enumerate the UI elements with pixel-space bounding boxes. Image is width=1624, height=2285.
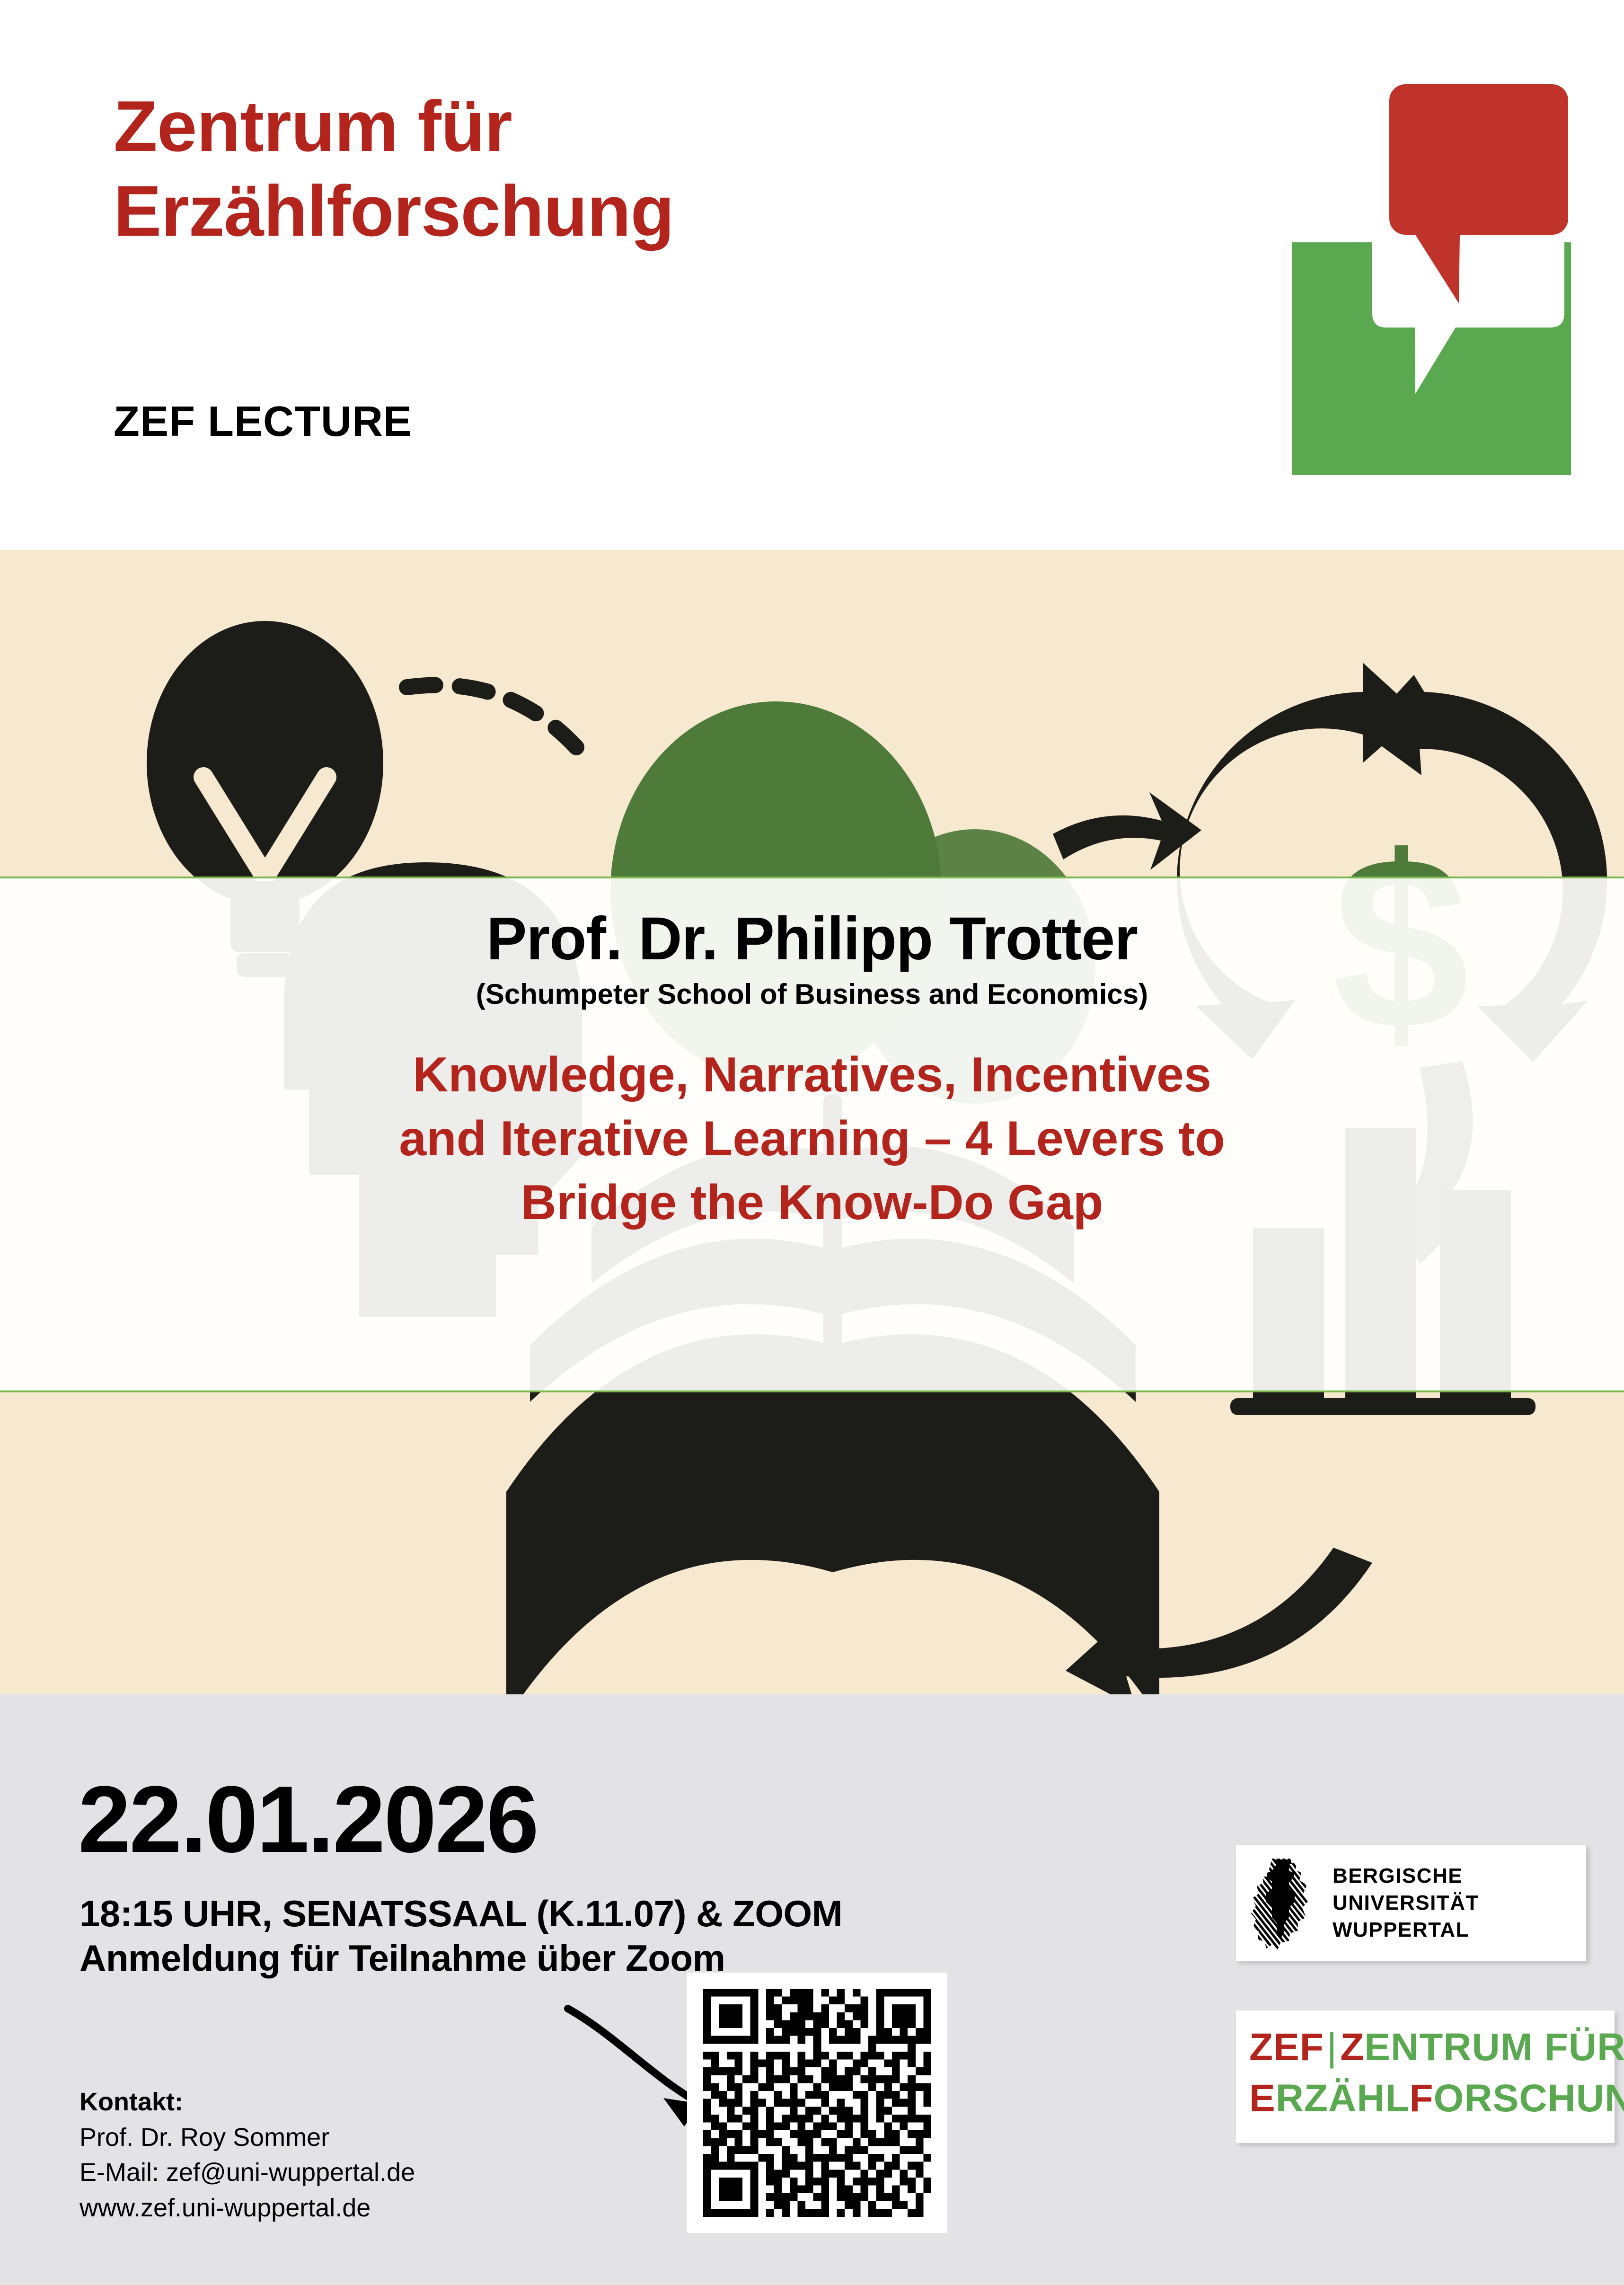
buw-wordmark-text: BERGISCHE UNIVERSITÄT WUPPERTAL [1333, 1862, 1479, 1944]
speaker-affiliation: (Schumpeter School of Business and Econo… [0, 978, 1624, 1010]
zef-wordmark-line-2: ERZÄHLFORSCHUNG [1249, 2073, 1615, 2124]
zef-divider-bar: | [1324, 2026, 1340, 2069]
buw-line-3: WUPPERTAL [1333, 1916, 1479, 1943]
bergische-universitaet-wuppertal-logo: BERGISCHE UNIVERSITÄT WUPPERTAL [1236, 1845, 1586, 1961]
organization-title-line1: Zentrum für [114, 84, 1155, 169]
contact-name: Prof. Dr. Roy Sommer [79, 2120, 415, 2155]
buw-line-1: BERGISCHE [1333, 1862, 1479, 1889]
green-bubble-shape [1292, 242, 1571, 475]
forschung-initial: F [1410, 2077, 1434, 2120]
zentrum-rest: ENTRUM FÜR [1364, 2026, 1624, 2069]
forschung-rest: ORSCHUNG [1434, 2077, 1624, 2120]
zentrum-initial: Z [1340, 2026, 1364, 2069]
buw-line-2: UNIVERSITÄT [1333, 1889, 1479, 1916]
lecture-title-line2: and Iterative Learning – 4 Levers to [0, 1107, 1624, 1171]
red-bubble-shape [1389, 84, 1568, 303]
contact-website[interactable]: www.zef.uni-wuppertal.de [79, 2190, 415, 2226]
contact-heading: Kontakt: [79, 2084, 415, 2120]
zef-speech-bubble-logo [1287, 76, 1571, 483]
organization-title: Zentrum für Erzählforschung [114, 84, 1155, 254]
lecture-title: Knowledge, Narratives, Incentives and It… [0, 1043, 1624, 1235]
zef-wordmark-line-1: ZEF|ZENTRUM FÜR [1249, 2022, 1615, 2073]
registration-note: Anmeldung für Teilnahme über Zoom [79, 1937, 725, 1980]
lecture-series-label: ZEF LECTURE [114, 398, 412, 446]
lecture-info-box: Prof. Dr. Philipp Trotter (Schumpeter Sc… [0, 877, 1624, 1392]
contact-email[interactable]: E-Mail: zef@uni-wuppertal.de [79, 2155, 415, 2190]
lecture-title-line1: Knowledge, Narratives, Incentives [0, 1043, 1624, 1107]
buw-hatched-emblem-icon [1247, 1856, 1318, 1950]
zef-wordmark-logo: ZEF|ZENTRUM FÜR ERZÄHLFORSCHUNG [1236, 2010, 1615, 2143]
dashed-curve-icon [407, 685, 582, 754]
erzaehl-rest: RZÄHL [1276, 2077, 1410, 2120]
header-band: Zentrum für Erzählforschung ZEF LECTURE [0, 0, 1624, 550]
contact-block: Kontakt: Prof. Dr. Roy Sommer E-Mail: ze… [79, 2084, 415, 2225]
organization-title-line2: Erzählforschung [114, 169, 1155, 254]
lecture-title-line3: Bridge the Know-Do Gap [0, 1171, 1624, 1235]
poster-root: Zentrum für Erzählforschung ZEF LECTURE [0, 0, 1624, 2285]
qr-code-zoom-registration[interactable] [687, 1973, 947, 2233]
event-time-location: 18:15 UHR, SENATSSAAL (K.11.07) & ZOOM [79, 1892, 842, 1935]
zef-abbrev: ZEF [1249, 2026, 1324, 2069]
speaker-name: Prof. Dr. Philipp Trotter [0, 904, 1624, 974]
erzaehl-initial: E [1249, 2077, 1276, 2120]
event-date: 22.01.2026 [78, 1765, 538, 1874]
